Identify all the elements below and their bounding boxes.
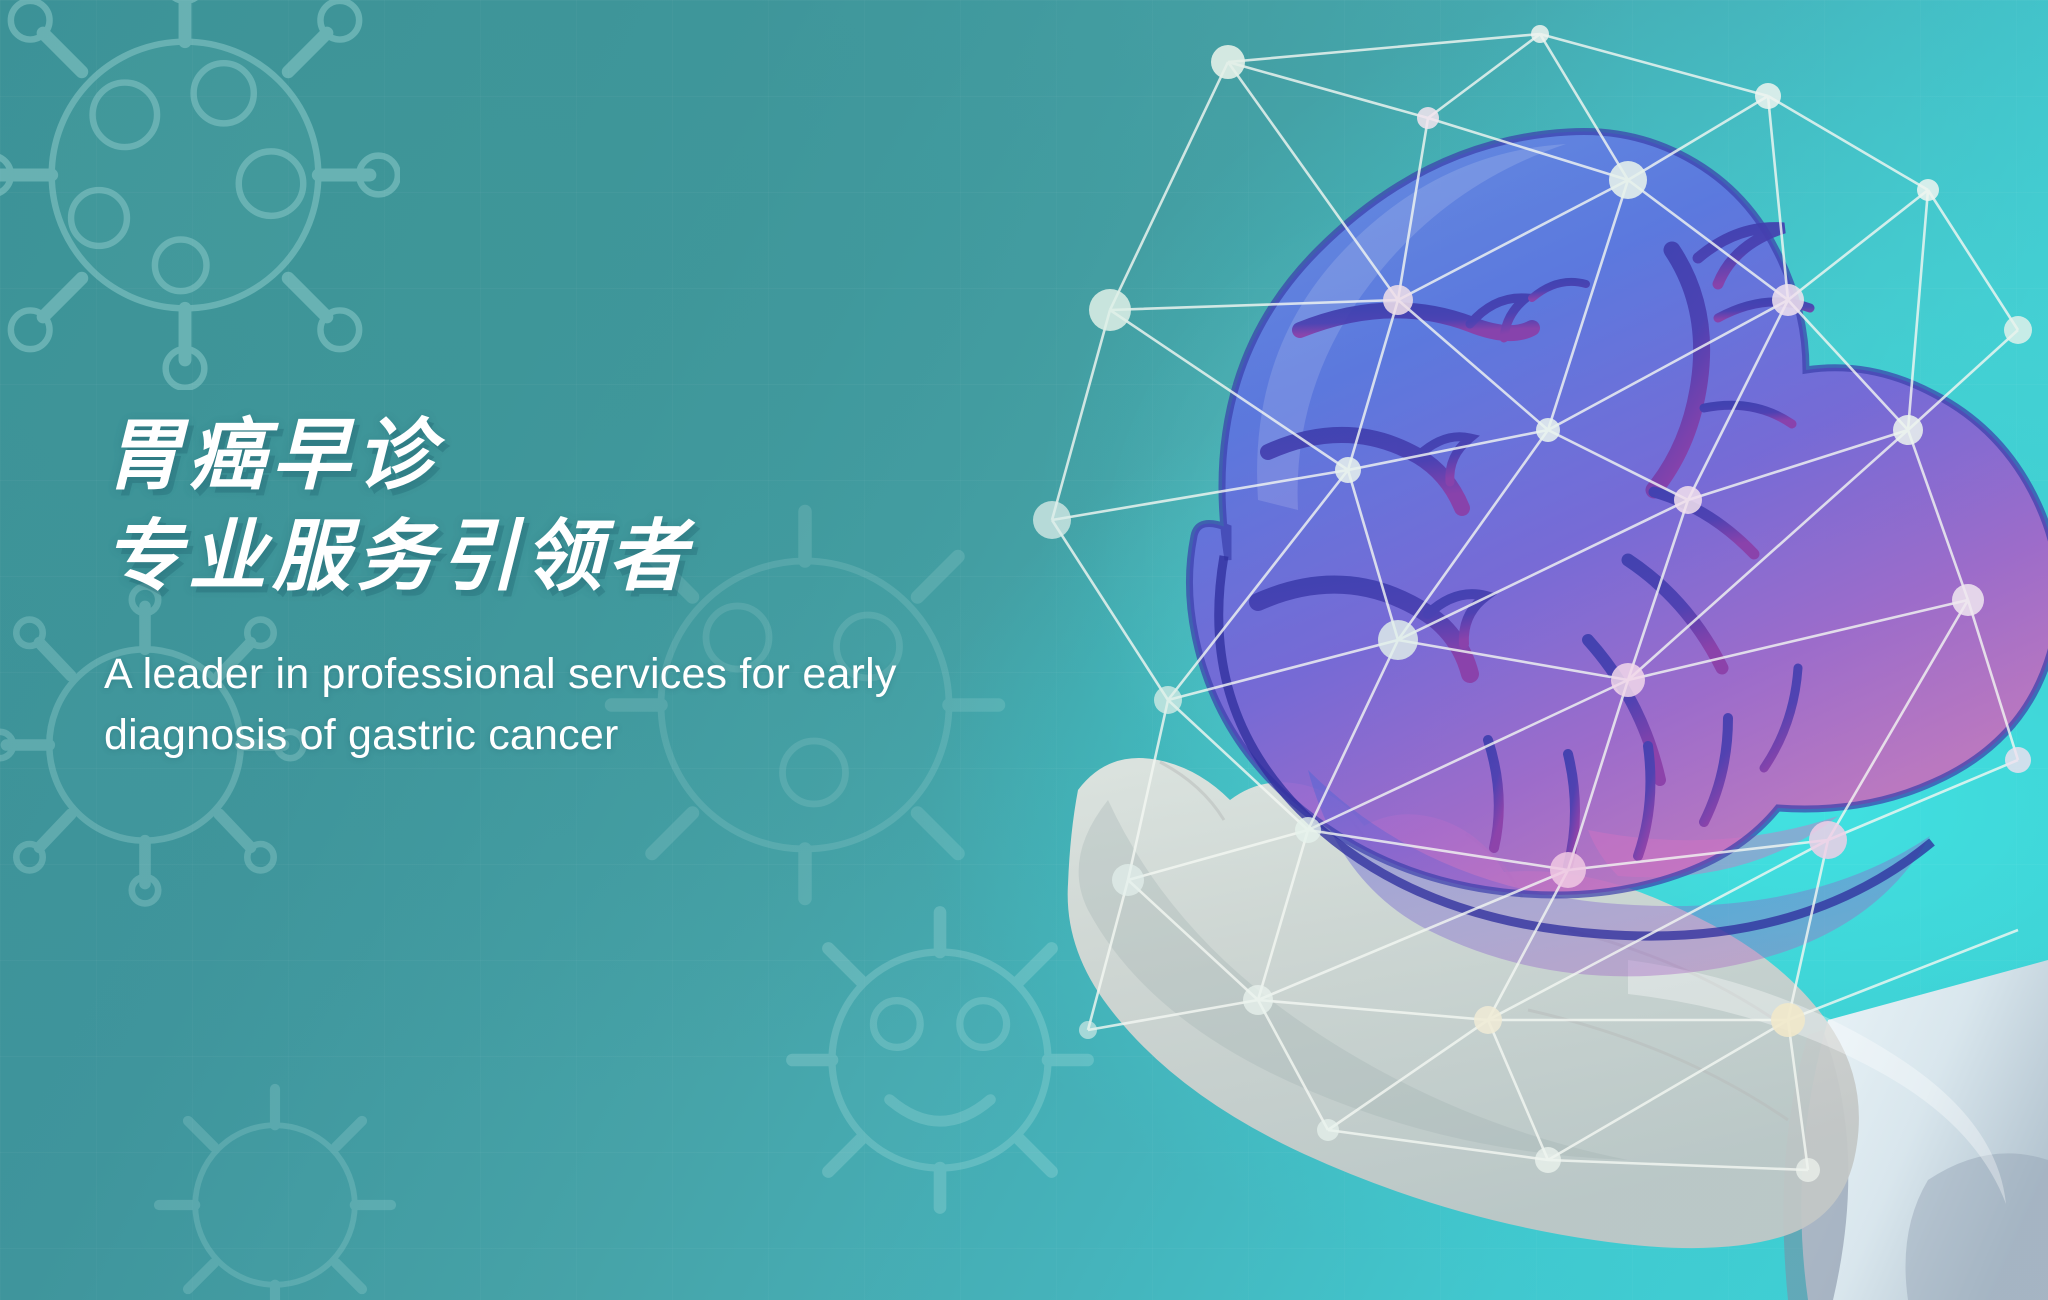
banner-hero: 胃癌早诊 专业服务引领者 A leader in professional se… bbox=[0, 0, 2048, 1300]
subtitle-line-2: diagnosis of gastric cancer bbox=[104, 705, 1104, 766]
headline-line-1: 胃癌早诊 bbox=[104, 408, 1164, 503]
hand-group bbox=[1068, 758, 2048, 1300]
stomach-group bbox=[1189, 131, 2048, 976]
virus-icon-top-left bbox=[0, 0, 400, 390]
subtitle-line-1: A leader in professional services for ea… bbox=[104, 644, 1104, 705]
headline-line-2: 专业服务引领者 bbox=[104, 509, 1164, 604]
network-overlay bbox=[1033, 25, 2032, 1182]
network-nodes bbox=[1033, 25, 2032, 1182]
virus-icon-bottom-left bbox=[130, 1060, 420, 1300]
hero-text-block: 胃癌早诊 专业服务引领者 A leader in professional se… bbox=[104, 408, 1164, 766]
subtitle-block: A leader in professional services for ea… bbox=[104, 644, 1104, 766]
virus-icon-center-low bbox=[760, 880, 1120, 1240]
